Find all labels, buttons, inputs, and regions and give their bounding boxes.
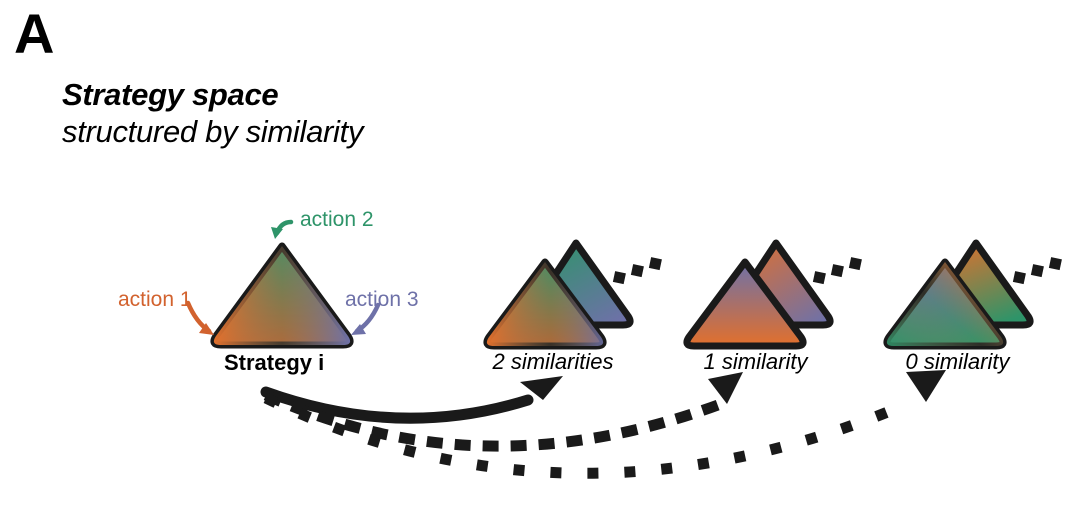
arrow-to-2-similarities [266,376,563,418]
group-caption-0-similarity: 0 similarity [885,349,1030,375]
group-0-similarity-ellipsis-icon [1013,257,1062,284]
figure-panel-a: A Strategy space structured by similarit… [0,0,1082,516]
group-2-similarities-triangles [487,243,630,346]
arrow-to-0-similarity [266,370,946,473]
group-2-similarities-ellipsis-icon [613,257,662,284]
group-1-similarity-ellipsis-icon [813,257,862,284]
action2-pointer-icon [271,222,291,239]
strategy-i-caption: Strategy i [224,350,324,376]
figure-graphics [0,0,1082,516]
action1-pointer-icon [188,303,214,335]
action-1-label: action 1 [118,288,192,312]
group-caption-2-similarities: 2 similarities [473,349,633,375]
main-strategy-triangle [214,246,350,345]
group-0-similarity-triangles [887,243,1030,346]
action-2-label: action 2 [300,208,374,232]
main-triangle-hue-overlay [214,246,350,345]
action-3-label: action 3 [345,288,419,312]
group-caption-1-similarity: 1 similarity [683,349,828,375]
group-1-similarity-triangles [687,243,830,346]
